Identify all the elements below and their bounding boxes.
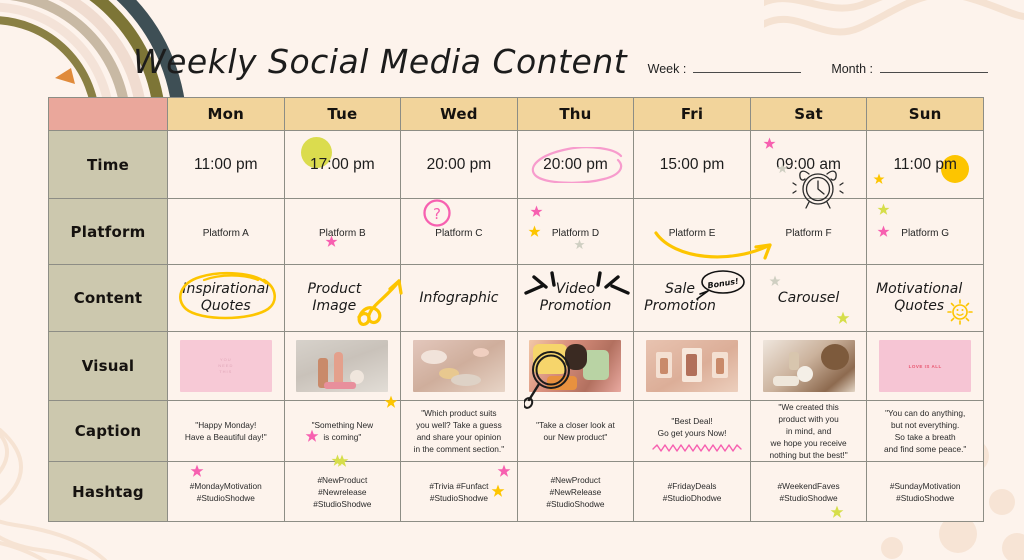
table-header-row: Mon Tue Wed Thu Fri Sat Sun [49,98,984,131]
platform-value-tue: Platform B [319,228,366,239]
row-label-visual: Visual [49,332,168,401]
table-row-visual: Visual YOU NEED THIS [49,332,984,401]
content-value-mon: Inspirational Quotes [182,281,269,315]
star-icon [763,137,776,150]
column-header-thu: Thu [517,98,634,131]
cell-caption-fri[interactable]: "Best Deal! Go get yours Now! [634,401,751,462]
visual-thumbnail-thu[interactable] [529,340,621,392]
caption-value-fri: "Best Deal! Go get yours Now! [634,415,750,439]
caption-value-sat: "We created this product with you in min… [751,401,867,461]
cell-hashtag-wed[interactable]: #Trivia #Funfact #StudioShodwe [401,462,518,522]
cell-content-thu[interactable]: Video Promotion [517,265,634,332]
platform-value-sun: Platform G [901,228,949,239]
cell-hashtag-mon[interactable]: #MondayMotivation #StudioShodwe [168,462,285,522]
weekly-content-table: Mon Tue Wed Thu Fri Sat Sun Time 11:00 p… [48,97,984,522]
cell-visual-mon[interactable]: YOU NEED THIS [168,332,285,401]
cell-visual-tue[interactable] [284,332,401,401]
cell-time-mon[interactable]: 11:00 pm [168,131,285,199]
cell-time-wed[interactable]: 20:00 pm [401,131,518,199]
hashtag-value-fri: #FridayDeals #StudioDhodwe [634,480,750,504]
top-wave-decoration [764,0,1024,70]
platform-value-mon: Platform A [203,228,249,239]
corner-cell [49,98,168,131]
star-icon [836,311,850,325]
cell-platform-sun[interactable]: Platform G [867,199,984,265]
star-icon [877,225,890,238]
cell-platform-thu[interactable]: Platform D [517,199,634,265]
cell-content-tue[interactable]: Product Image [284,265,401,332]
thumb-sun-text: LOVE IS ALL [909,364,942,369]
visual-thumbnail-wed[interactable] [413,340,505,392]
hashtag-value-tue: #NewProduct #Newrelease #StudioShodwe [285,474,401,510]
week-input[interactable] [693,62,801,73]
week-label: Week : [648,62,687,76]
cell-caption-wed[interactable]: "Which product suits you well? Take a gu… [401,401,518,462]
content-value-tue: Product Image [307,281,361,315]
hashtag-value-sun: #SundayMotivation #StudioShodwe [867,480,983,504]
time-value-mon: 11:00 pm [194,156,257,174]
cell-time-sat[interactable]: 09:00 am [750,131,867,199]
cell-caption-sat[interactable]: "We created this product with you in min… [750,401,867,462]
table-row-content: Content Inspirational Quotes Product Ima… [49,265,984,332]
cell-caption-tue[interactable]: "Something New is coming" [284,401,401,462]
cell-caption-sun[interactable]: "You can do anything, but not everything… [867,401,984,462]
cell-platform-tue[interactable]: Platform B [284,199,401,265]
question-mark-circle-icon: ? [421,197,453,229]
table-row-hashtag: Hashtag #MondayMotivation #StudioShodwe … [49,462,984,522]
cell-caption-thu[interactable]: "Take a closer look at our New product" [517,401,634,462]
cell-platform-fri[interactable]: Platform E [634,199,751,265]
platform-value-wed: Platform C [435,228,482,239]
cell-hashtag-sat[interactable]: #WeekendFaves #StudioShodwe [750,462,867,522]
cell-content-wed[interactable]: Infographic [401,265,518,332]
row-label-time: Time [49,131,168,199]
cell-platform-mon[interactable]: Platform A [168,199,285,265]
cell-time-sun[interactable]: 11:00 pm [867,131,984,199]
column-header-sun: Sun [867,98,984,131]
cell-visual-wed[interactable] [401,332,518,401]
content-value-sun: Motivational Quotes [876,281,962,315]
visual-thumbnail-sun[interactable]: LOVE IS ALL [879,340,971,392]
content-value-fri: Sale Promotion [644,281,716,315]
cell-hashtag-thu[interactable]: #NewProduct #NewRelease #StudioShodwe [517,462,634,522]
cell-hashtag-fri[interactable]: #FridayDeals #StudioDhodwe [634,462,751,522]
star-icon [877,203,890,216]
caption-value-thu: "Take a closer look at our New product" [518,419,634,443]
time-value-fri: 15:00 pm [660,156,725,174]
star-icon [769,275,781,287]
visual-thumbnail-tue[interactable] [296,340,388,392]
hashtag-value-sat: #WeekendFaves #StudioShodwe [751,480,867,504]
hashtag-value-thu: #NewProduct #NewRelease #StudioShodwe [518,474,634,510]
cell-time-tue[interactable]: 17:00 pm [284,131,401,199]
time-value-wed: 20:00 pm [427,156,492,174]
row-label-platform: Platform [49,199,168,265]
pink-squiggle-underline-icon [652,443,744,453]
cell-visual-sat[interactable] [750,332,867,401]
page-title: Weekly Social Media Content [133,42,627,81]
month-label: Month : [831,62,873,76]
column-header-sat: Sat [750,98,867,131]
cell-visual-sun[interactable]: LOVE IS ALL [867,332,984,401]
content-value-thu: Video Promotion [540,281,612,315]
visual-thumbnail-fri[interactable] [646,340,738,392]
time-value-tue: 17:00 pm [310,156,375,174]
time-value-sat: 09:00 am [776,156,841,174]
table-row-time: Time 11:00 pm 17:00 pm 20:00 pm 20:00 pm… [49,131,984,199]
cell-visual-fri[interactable] [634,332,751,401]
content-value-wed: Infographic [419,290,498,307]
time-value-thu: 20:00 pm [543,156,608,174]
thumb-mon-text: YOU NEED THIS [218,357,233,375]
cell-platform-wed[interactable]: ? Platform C [401,199,518,265]
month-input[interactable] [880,62,988,73]
cell-hashtag-tue[interactable]: #NewProduct #Newrelease #StudioShodwe [284,462,401,522]
row-label-content: Content [49,265,168,332]
cell-caption-mon[interactable]: "Happy Monday! Have a Beautiful day!" [168,401,285,462]
star-icon [190,464,204,478]
caption-value-sun: "You can do anything, but not everything… [867,407,983,455]
visual-thumbnail-sat[interactable] [763,340,855,392]
column-header-mon: Mon [168,98,285,131]
column-header-fri: Fri [634,98,751,131]
cell-content-sat[interactable]: Carousel [750,265,867,332]
cell-time-fri[interactable]: 15:00 pm [634,131,751,199]
table-row-platform: Platform Platform A Platform B ? Platfor… [49,199,984,265]
hashtag-value-mon: #MondayMotivation #StudioShodwe [168,480,284,504]
week-field[interactable]: Week : [648,62,802,76]
star-icon [497,464,511,478]
cell-content-fri[interactable]: Sale Promotion Bonus! [634,265,751,332]
visual-thumbnail-mon[interactable]: YOU NEED THIS [180,340,272,392]
content-value-sat: Carousel [778,290,839,307]
cell-content-mon[interactable]: Inspirational Quotes [168,265,285,332]
cell-platform-sat[interactable]: Platform F [750,199,867,265]
hashtag-value-wed: #Trivia #Funfact #StudioShodwe [401,480,517,504]
meta-fields: Week : Month : [648,62,988,76]
month-field[interactable]: Month : [831,62,988,76]
caption-value-mon: "Happy Monday! Have a Beautiful day!" [168,419,284,443]
cell-visual-thu[interactable] [517,332,634,401]
cell-content-sun[interactable]: Motivational Quotes [867,265,984,332]
caption-value-wed: "Which product suits you well? Take a gu… [401,407,517,455]
time-value-sun: 11:00 pm [893,156,956,174]
star-icon [830,505,844,519]
row-label-caption: Caption [49,401,168,462]
star-icon [574,239,585,250]
platform-value-sat: Platform F [786,228,832,239]
star-icon [528,225,541,238]
cell-hashtag-sun[interactable]: #SundayMotivation #StudioShodwe [867,462,984,522]
column-header-tue: Tue [284,98,401,131]
column-header-wed: Wed [401,98,518,131]
platform-value-thu: Platform D [552,228,599,239]
row-label-hashtag: Hashtag [49,462,168,522]
table-row-caption: Caption "Happy Monday! Have a Beautiful … [49,401,984,462]
cell-time-thu[interactable]: 20:00 pm [517,131,634,199]
star-icon [530,205,543,218]
platform-value-fri: Platform E [669,228,716,239]
star-icon [873,173,885,185]
svg-text:?: ? [433,205,441,223]
caption-value-tue: "Something New is coming" [285,419,401,443]
